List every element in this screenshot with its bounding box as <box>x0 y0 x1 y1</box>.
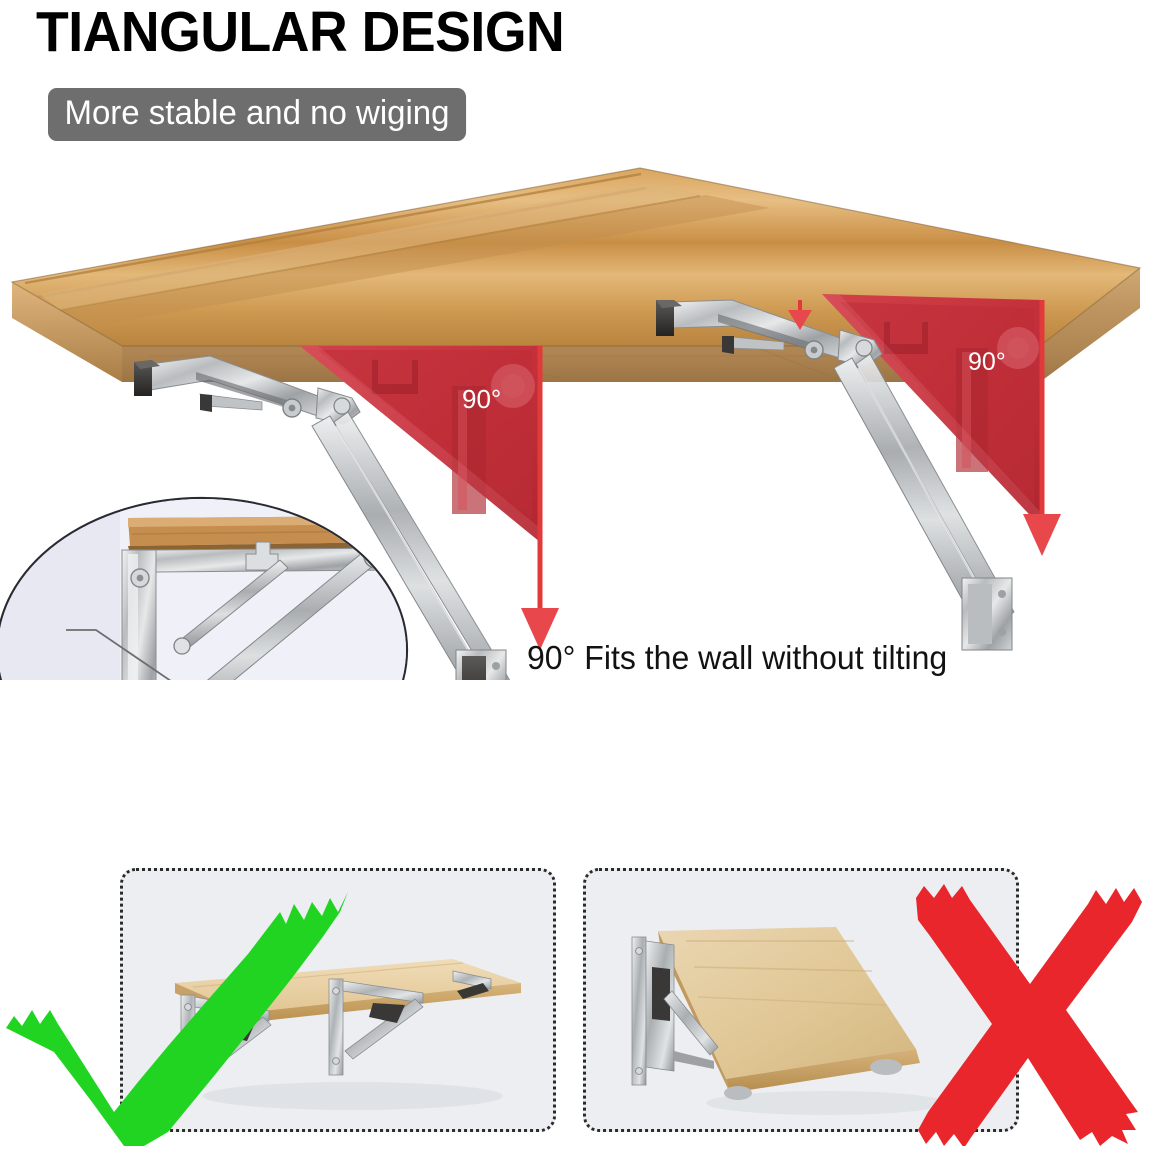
page-title: TIANGULAR DESIGN <box>36 2 564 64</box>
subtitle-badge: More stable and no wiging <box>48 88 466 141</box>
comparison-panel-correct <box>120 868 556 1132</box>
callout-caption: 90° Fits the wall without tilting <box>527 639 947 677</box>
detail-inset <box>0 495 420 680</box>
hero-product-image: 90° <box>0 150 1170 680</box>
comparison-panel-wrong <box>583 868 1019 1132</box>
angle-label-left: 90° <box>462 384 501 414</box>
angle-label-right: 90° <box>968 348 1006 376</box>
